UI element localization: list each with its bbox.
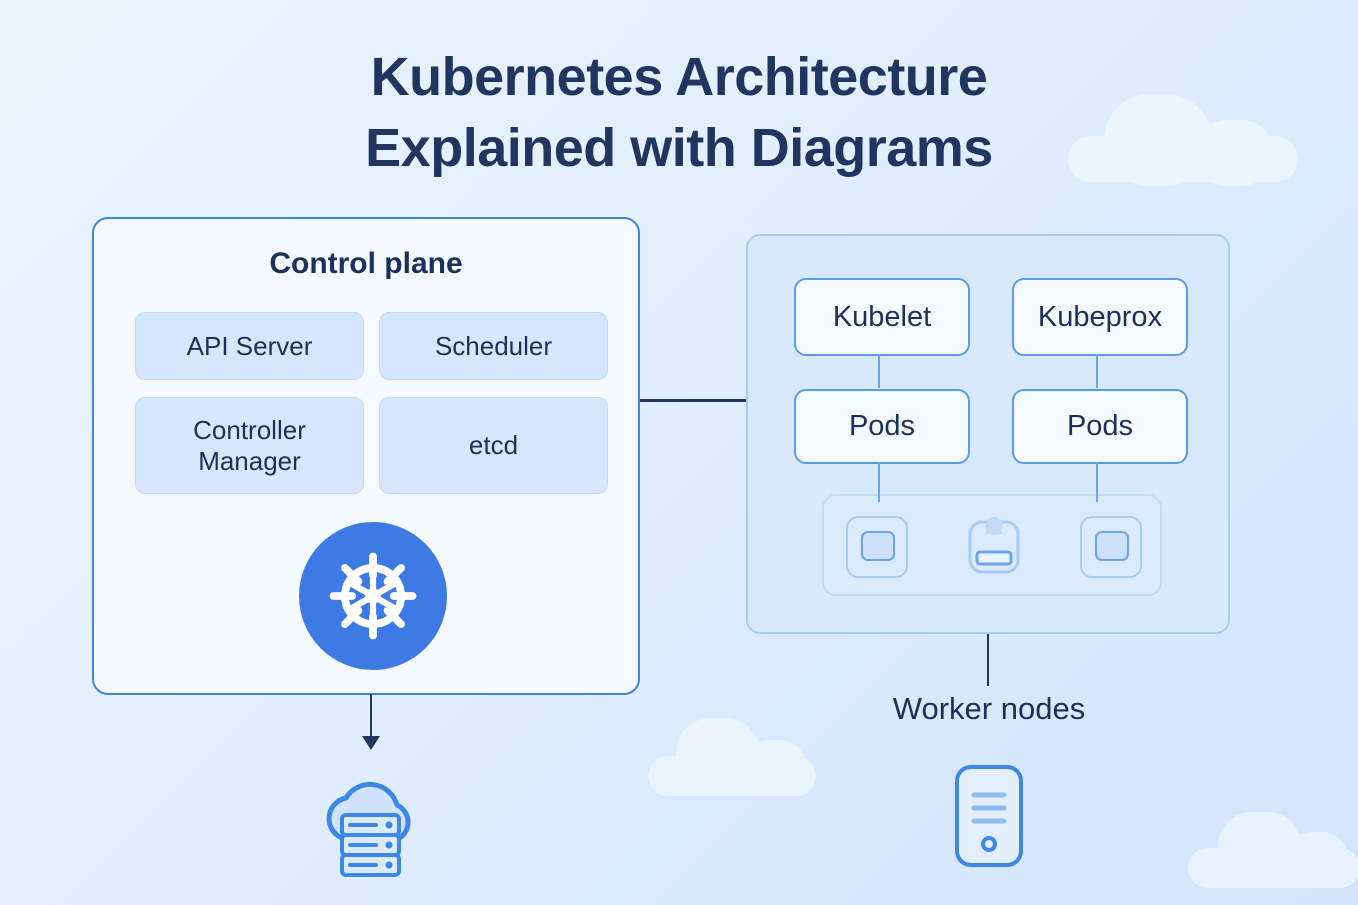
- container-group: [822, 494, 1162, 596]
- connector-kubeproxy-to-pods: [1096, 354, 1098, 388]
- container-box-icon: [1080, 516, 1142, 578]
- worker-nodes-label: Worker nodes: [826, 691, 1152, 727]
- worker-nodes-panel: Kubelet Kubeprox Pods Pods: [746, 234, 1230, 634]
- container-box-inner: [1095, 531, 1129, 561]
- node-component-kubelet: Kubelet: [794, 278, 970, 356]
- server-tower-icon: [952, 762, 1026, 870]
- cloud-puff: [676, 718, 760, 788]
- page-title: Kubernetes Architecture Explained with D…: [0, 42, 1358, 185]
- connector-control-plane-to-cloud: [370, 694, 372, 742]
- control-plane-panel: Control plane API Server Scheduler Contr…: [92, 217, 640, 695]
- cloud-server-icon: [312, 765, 430, 877]
- connector-worker-label: [987, 634, 989, 686]
- connector-control-plane-to-workers: [640, 399, 748, 402]
- connector-pods-to-containers-left: [878, 462, 880, 502]
- cloud-base: [648, 756, 816, 796]
- cloud-puff: [744, 740, 806, 792]
- down-arrow-icon: [362, 736, 380, 750]
- component-etcd: etcd: [379, 397, 608, 494]
- cloud-bottom-right-icon: [1188, 812, 1358, 886]
- node-pods-right: Pods: [1012, 389, 1188, 464]
- control-plane-heading: Control plane: [94, 247, 638, 281]
- page-title-line-2: Explained with Diagrams: [0, 113, 1358, 184]
- diagram-canvas: Kubernetes Architecture Explained with D…: [0, 0, 1358, 905]
- cloud-puff: [1218, 812, 1302, 880]
- cloud-bottom-center-icon: [648, 718, 816, 794]
- container-box-inner: [861, 531, 895, 561]
- container-registry-icon: [960, 510, 1028, 584]
- container-box-icon: [846, 516, 908, 578]
- connector-pods-to-containers-right: [1096, 462, 1098, 502]
- connector-kubelet-to-pods: [878, 354, 880, 388]
- component-api-server: API Server: [135, 312, 364, 380]
- component-scheduler: Scheduler: [379, 312, 608, 380]
- page-title-line-1: Kubernetes Architecture: [0, 42, 1358, 113]
- cloud-base: [1188, 848, 1358, 888]
- node-pods-left: Pods: [794, 389, 970, 464]
- component-controller-manager: Controller Manager: [135, 397, 364, 494]
- kubernetes-wheel-icon: [299, 522, 447, 670]
- node-component-kubeproxy: Kubeprox: [1012, 278, 1188, 356]
- cloud-puff: [1286, 832, 1348, 884]
